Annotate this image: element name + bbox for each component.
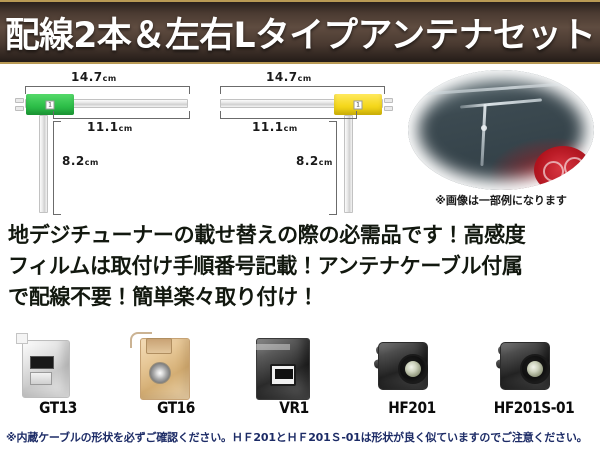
dimension-bracket-vertical-left [53, 121, 61, 215]
footer-disclaimer: ※内蔵ケーブルの形状を必ずご確認ください。ＨＦ201とＨＦ201Ｓ-01は形状が… [6, 429, 600, 445]
connector-badge-right: 1 [354, 100, 363, 109]
dimension-bracket-vertical-right [329, 121, 337, 215]
dimension-bracket-mid-right [220, 111, 357, 119]
connector-hf201s01: HF201S-01 [484, 330, 584, 425]
antenna-right: 14.7cm 1 11.1cm 8.2cm [208, 66, 408, 216]
connector-hf201s01-image [490, 332, 552, 404]
header-banner: 配線2本＆左右Lタイプアンテナセット [0, 0, 600, 64]
film-arm-vertical-left [39, 115, 48, 213]
connector-gt16-image [132, 332, 194, 404]
connector-vr1: VR1 [244, 330, 344, 425]
dimension-bracket-top-left [25, 86, 190, 94]
marketing-copy: 地デジチューナーの載せ替えの際の必需品です！高感度 フィルムは取付け手順番号記載… [8, 220, 592, 313]
connector-hf201-image [368, 332, 430, 404]
copy-line-2: フィルムは取付け手順番号記載！アンテナケーブル付属 [8, 251, 592, 282]
antenna-left: 14.7cm 1 11.1cm 8.2cm [8, 66, 208, 216]
dimension-label-vertical-left: 8.2cm [62, 154, 99, 168]
installed-film-connector [481, 125, 487, 131]
banner-title: 配線2本＆左右Lタイプアンテナセット [5, 7, 595, 58]
copy-line-3: で配線不要！簡単楽々取り付け！ [8, 282, 592, 313]
install-photo-oval [408, 70, 594, 190]
film-tab-lower-left [15, 106, 24, 111]
connector-hf201s01-label: HF201S-01 [491, 398, 577, 417]
windshield-edge [408, 80, 594, 98]
dimension-label-top-right: 14.7cm [266, 70, 312, 84]
red-reel-object [534, 146, 592, 190]
connector-gt13: GT13 [8, 330, 108, 425]
film-tab-upper-right [384, 98, 393, 103]
connector-vr1-label: VR1 [251, 398, 337, 417]
install-photo-caption: ※画像は一部例になります [408, 192, 594, 208]
dimension-label-mid-left: 11.1cm [87, 120, 133, 134]
connector-type-row: GT13 GT16 VR1 [0, 330, 600, 425]
connector-gt16: GT16 [126, 330, 226, 425]
connector-badge-left: 1 [46, 100, 55, 109]
product-listing-image: 配線2本＆左右Lタイプアンテナセット 14.7cm 1 11.1cm 8.2cm [0, 0, 600, 450]
dimension-label-vertical-right: 8.2cm [296, 154, 333, 168]
installed-film-vertical [481, 104, 487, 166]
connector-gt13-label: GT13 [15, 398, 101, 417]
film-arm-vertical-right [344, 115, 353, 213]
dimension-bracket-mid-left [53, 111, 190, 119]
film-tab-lower-right [384, 106, 393, 111]
connector-hf201-label: HF201 [369, 398, 455, 417]
dimension-label-top-left: 14.7cm [71, 70, 117, 84]
connector-gt13-image [14, 332, 76, 404]
install-photo [408, 70, 594, 190]
dimension-bracket-top-right [220, 86, 385, 94]
copy-line-1: 地デジチューナーの載せ替えの際の必需品です！高感度 [8, 220, 592, 251]
connector-hf201: HF201 [362, 330, 462, 425]
dimension-label-mid-right: 11.1cm [252, 120, 298, 134]
installed-film-horizontal [460, 99, 542, 109]
connector-gt16-label: GT16 [133, 398, 219, 417]
connector-vr1-image [250, 332, 312, 404]
film-tab-upper-left [15, 98, 24, 103]
